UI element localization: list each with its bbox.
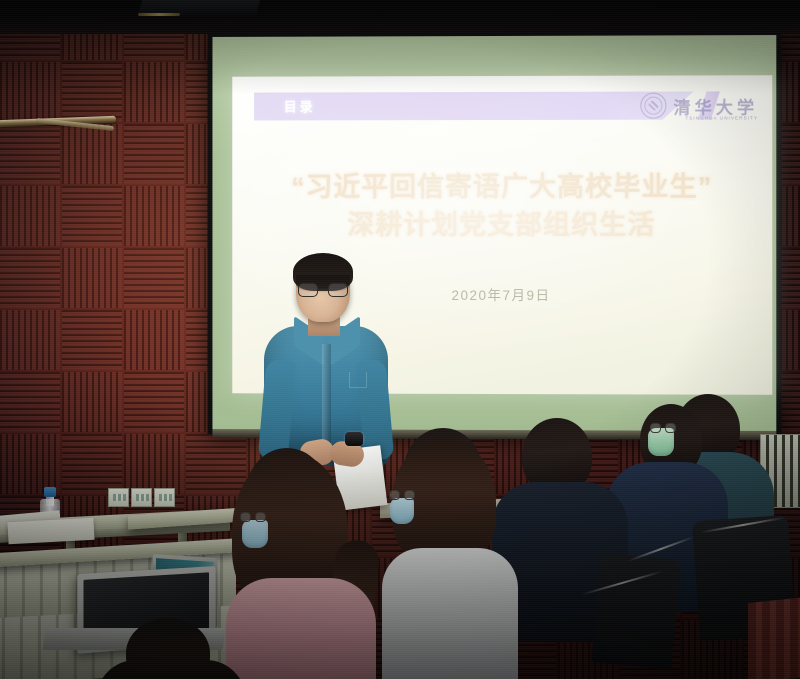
presenter-watch <box>345 432 363 446</box>
tsinghua-emblem-icon <box>640 93 666 119</box>
ceiling-led-strip-icon <box>138 13 180 16</box>
lecture-room-photo: 目录 清华大学 TSINGHUA UNIVERSITY “习近平回信寄语广大高校… <box>0 0 800 679</box>
slide-title-line-1: “习近平回信寄语广大高校毕业生” <box>232 168 772 207</box>
wall-outlet-plate <box>108 488 129 507</box>
papers-on-desk <box>7 518 94 544</box>
glasses-icon <box>650 423 676 434</box>
wall-outlet-plate <box>131 488 152 507</box>
slide-header-bar <box>254 92 694 121</box>
face-mask-blue <box>390 498 414 524</box>
slide-title-line-2: 深耕计划党支部组织生活 <box>232 206 772 245</box>
plaid-fabric <box>748 597 800 679</box>
presenter-glasses-icon <box>297 283 349 298</box>
university-name-english: TSINGHUA UNIVERSITY <box>685 115 758 120</box>
office-chair <box>591 553 680 670</box>
face-mask-blue <box>242 520 268 548</box>
university-name: 清华大学 <box>674 93 759 118</box>
glasses-icon <box>240 512 266 523</box>
glasses-icon <box>389 490 415 501</box>
wall-outlet-plate <box>154 488 175 507</box>
presenter-shirt-pocket <box>349 372 367 388</box>
ceiling <box>0 0 800 34</box>
slide-title: “习近平回信寄语广大高校毕业生” 深耕计划党支部组织生活 <box>232 168 772 245</box>
slide-header-label: 目录 <box>284 96 316 115</box>
